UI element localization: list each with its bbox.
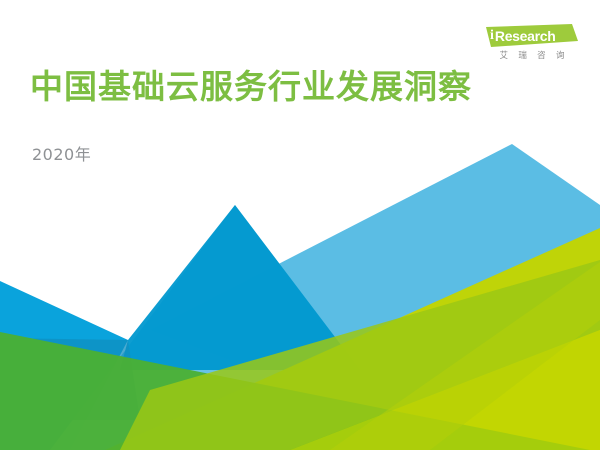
logo-banner-icon: i Research bbox=[486, 24, 578, 47]
logo-subtitle: 艾 瑞 咨 询 bbox=[486, 51, 578, 60]
logo-wordmark: i Research bbox=[486, 24, 578, 47]
logo-initial: i bbox=[490, 29, 494, 43]
report-cover-slide: i Research 艾 瑞 咨 询 中国基础云服务行业发展洞察 2020年 bbox=[0, 0, 600, 450]
logo-word: Research bbox=[495, 29, 556, 43]
page-year: 2020年 bbox=[32, 145, 91, 164]
brand-logo: i Research 艾 瑞 咨 询 bbox=[486, 24, 578, 60]
page-title: 中国基础云服务行业发展洞察 bbox=[30, 68, 472, 106]
